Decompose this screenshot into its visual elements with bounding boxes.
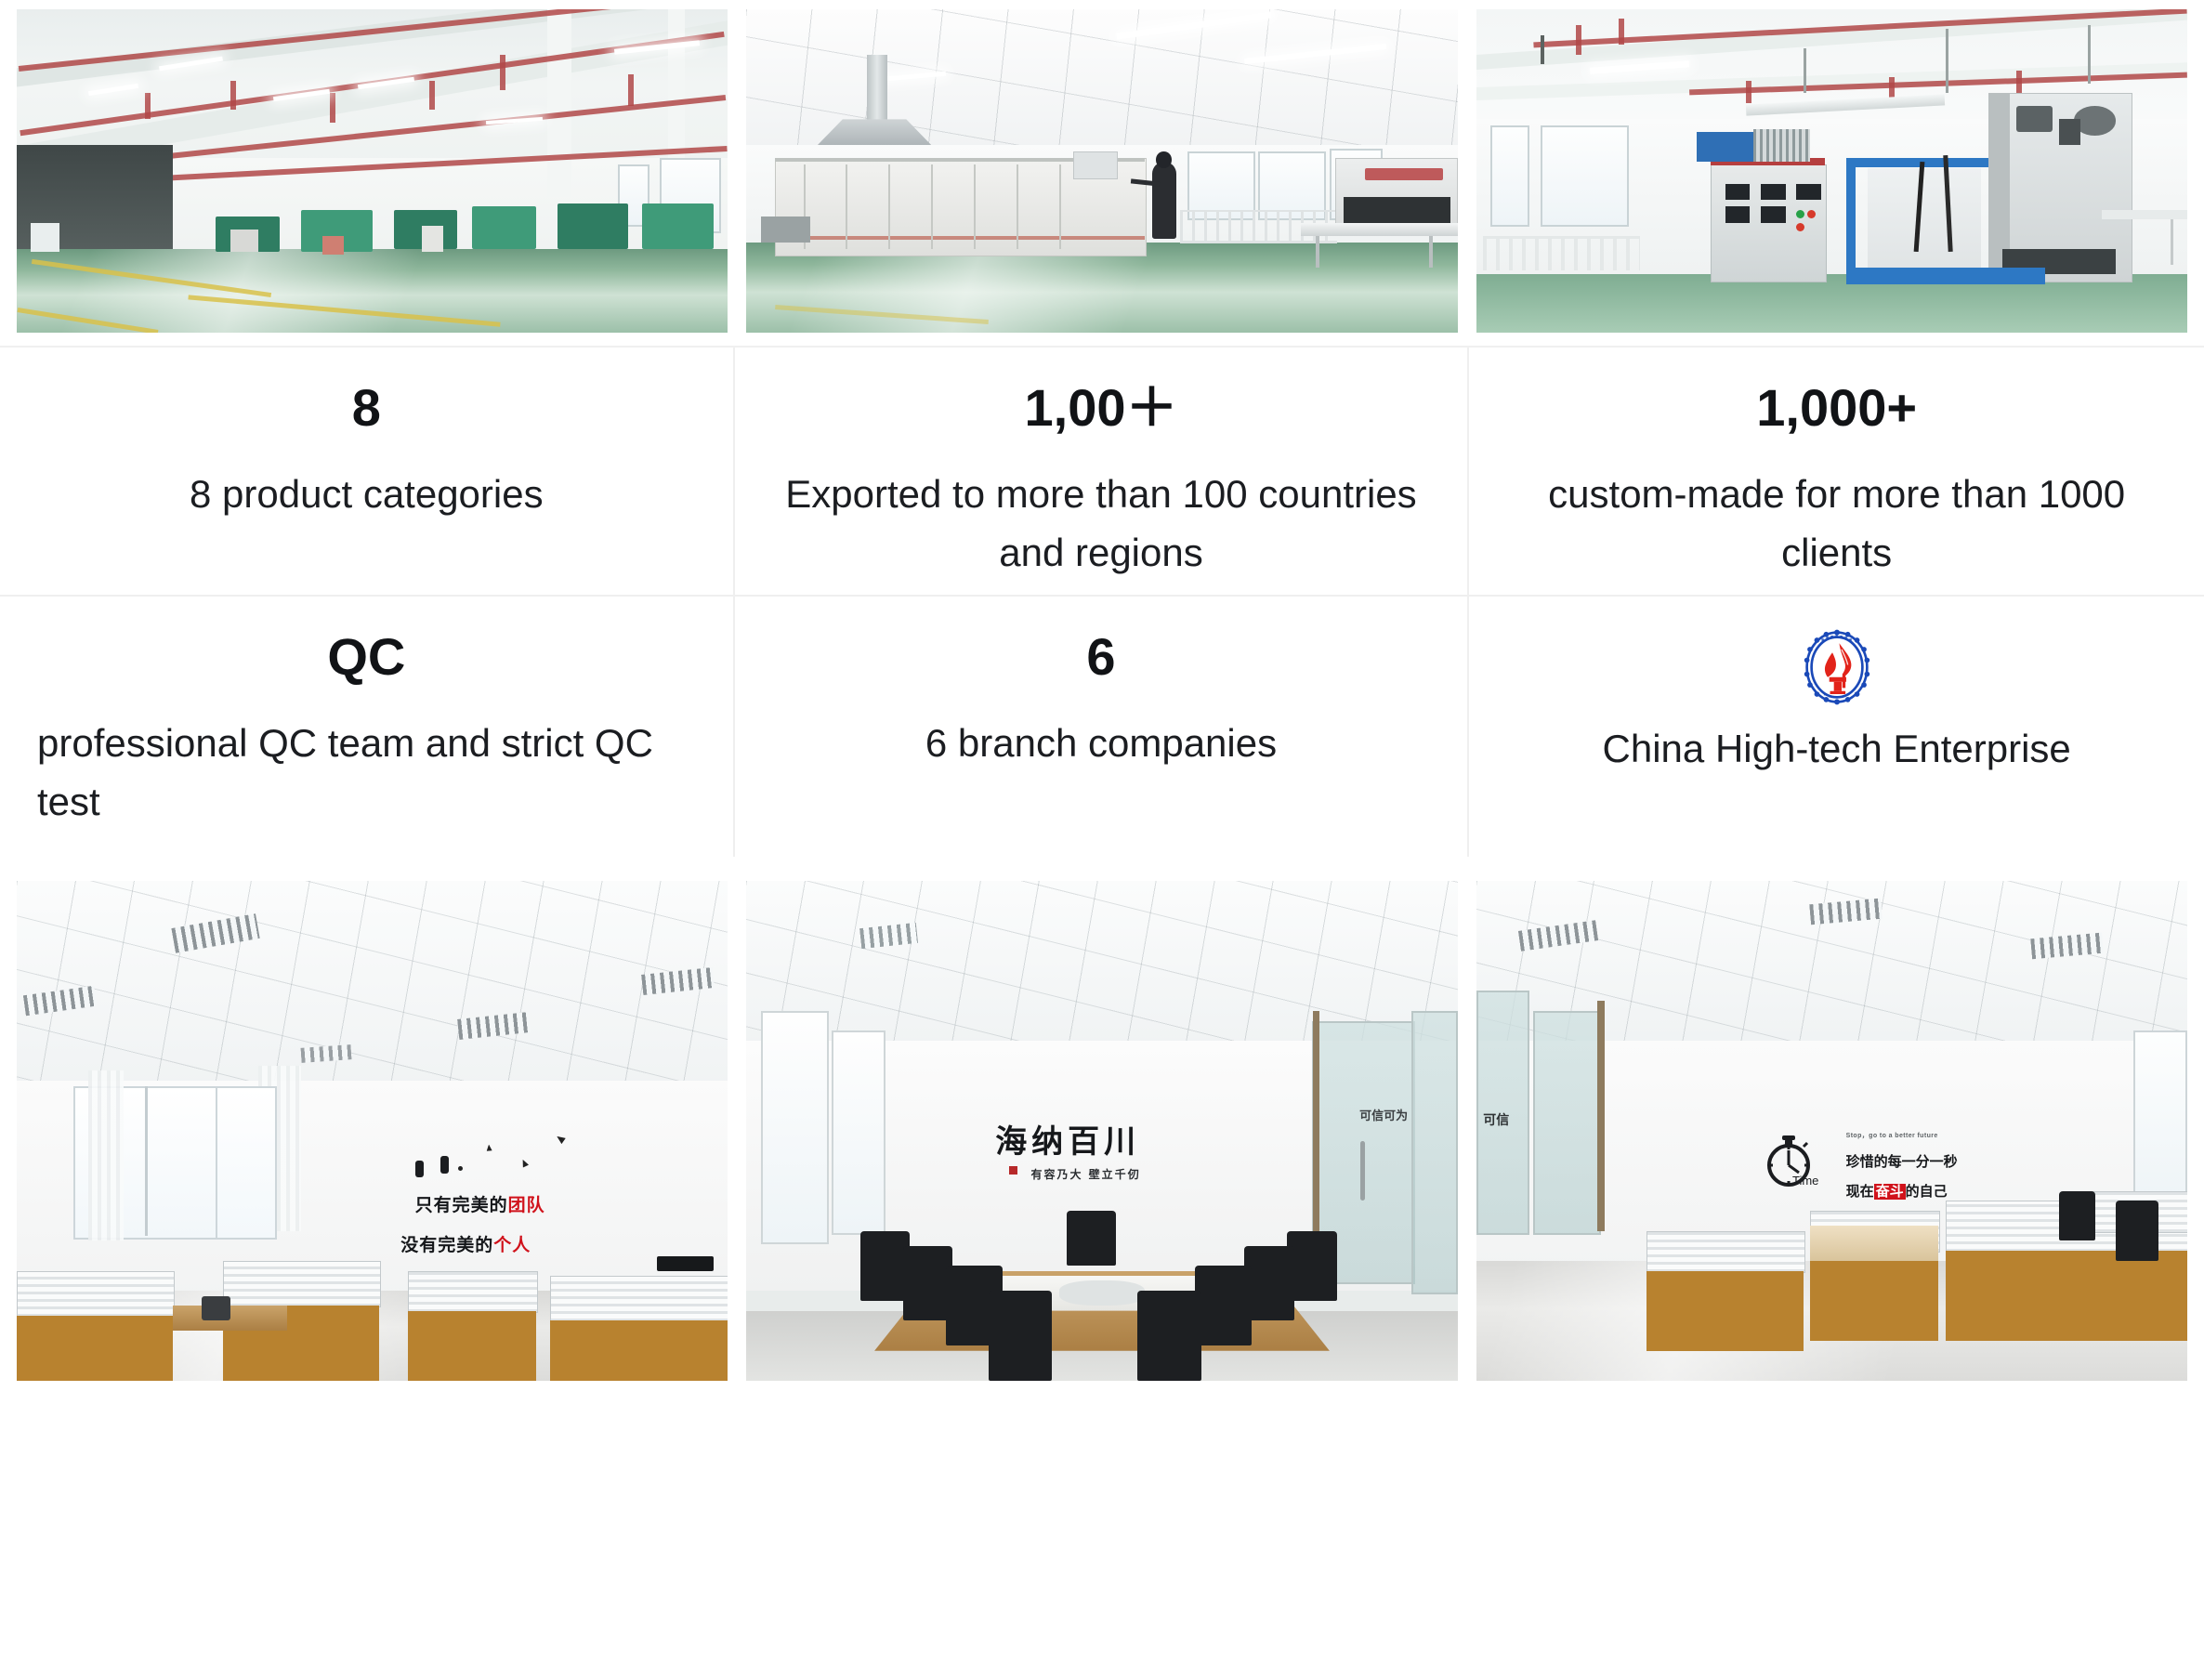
time-decal-cn1: 珍惜的每一分一秒 xyxy=(1846,1151,1958,1171)
bottom-photo-row: 只有完美的团队 没有完美的个人 xyxy=(0,881,2204,1381)
stat-label-branch-companies: 6 branch companies xyxy=(925,714,1277,772)
stat-value-exported-countries: 1,00＋ xyxy=(1024,379,1177,437)
office-slogan-line1: 只有完美的 xyxy=(415,1196,508,1215)
photo-coating-machine-control-cabinet xyxy=(1476,9,2187,333)
svg-text:Time: Time xyxy=(1792,1174,1818,1188)
stat-cell-custom-made-clients: 1,000+ custom-made for more than 1000 cl… xyxy=(1469,348,2204,597)
stat-value-branch-companies: 6 xyxy=(1086,628,1115,686)
stopwatch-time-decal-icon: Time xyxy=(1761,1126,1820,1191)
stat-label-product-categories: 8 product categories xyxy=(190,465,544,523)
time-decal-accent: 奋斗 xyxy=(1874,1184,1906,1200)
photo-reflow-oven-production-line xyxy=(746,9,1457,333)
time-decal-cn2: 现在 xyxy=(1846,1184,1874,1200)
stat-value-custom-made-clients: 1,000+ xyxy=(1756,379,1917,437)
stat-cell-product-categories: 8 8 product categories xyxy=(0,348,735,597)
stat-value-product-categories: 8 xyxy=(352,379,381,437)
office-slogan-accent1: 团队 xyxy=(508,1196,545,1215)
photo-factory-workshop-assembly-line xyxy=(17,9,728,333)
china-high-tech-enterprise-logo-icon xyxy=(1798,626,1876,708)
meeting-calligraphy: 海纳百川 xyxy=(995,1116,1140,1162)
photo-open-plan-office: 只有完美的团队 没有完美的个人 xyxy=(17,881,728,1381)
china-high-tech-enterprise-logo-wrap xyxy=(1798,628,1876,706)
photo-office-workstations: 可信 Time Stop，go to a better future xyxy=(1476,881,2187,1381)
office-slogan-line2: 没有完美的 xyxy=(400,1236,493,1255)
stat-label-exported-countries: Exported to more than 100 countries and … xyxy=(772,465,1431,582)
top-photo-row xyxy=(0,0,2204,333)
stat-cell-high-tech-enterprise: China High-tech Enterprise xyxy=(1469,597,2204,857)
time-decal-cn3: 的自己 xyxy=(1906,1184,1948,1200)
stat-label-custom-made-clients: custom-made for more than 1000 clients xyxy=(1506,465,2167,582)
stat-label-qc-team: professional QC team and strict QC test xyxy=(37,714,696,831)
office-slogan-accent2: 个人 xyxy=(493,1236,531,1255)
stat-cell-qc-team: QC professional QC team and strict QC te… xyxy=(0,597,735,857)
stat-value-qc-team: QC xyxy=(327,628,405,686)
stat-cell-exported-countries: 1,00＋ Exported to more than 100 countrie… xyxy=(735,348,1470,597)
time-decal-top: Stop，go to a better future xyxy=(1846,1131,1938,1140)
photo-meeting-room: 海纳百川 有容乃大 壁立千仞 可信可为 xyxy=(746,881,1457,1381)
stats-table: 8 8 product categories 1,00＋ Exported to… xyxy=(0,346,2204,857)
meeting-calligraphy-sub: 有容乃大 壁立千仞 xyxy=(1030,1166,1140,1182)
stat-label-high-tech-enterprise: China High-tech Enterprise xyxy=(1603,719,2071,778)
infographic-page: 8 8 product categories 1,00＋ Exported to… xyxy=(0,0,2204,1680)
stat-cell-branch-companies: 6 6 branch companies xyxy=(735,597,1470,857)
